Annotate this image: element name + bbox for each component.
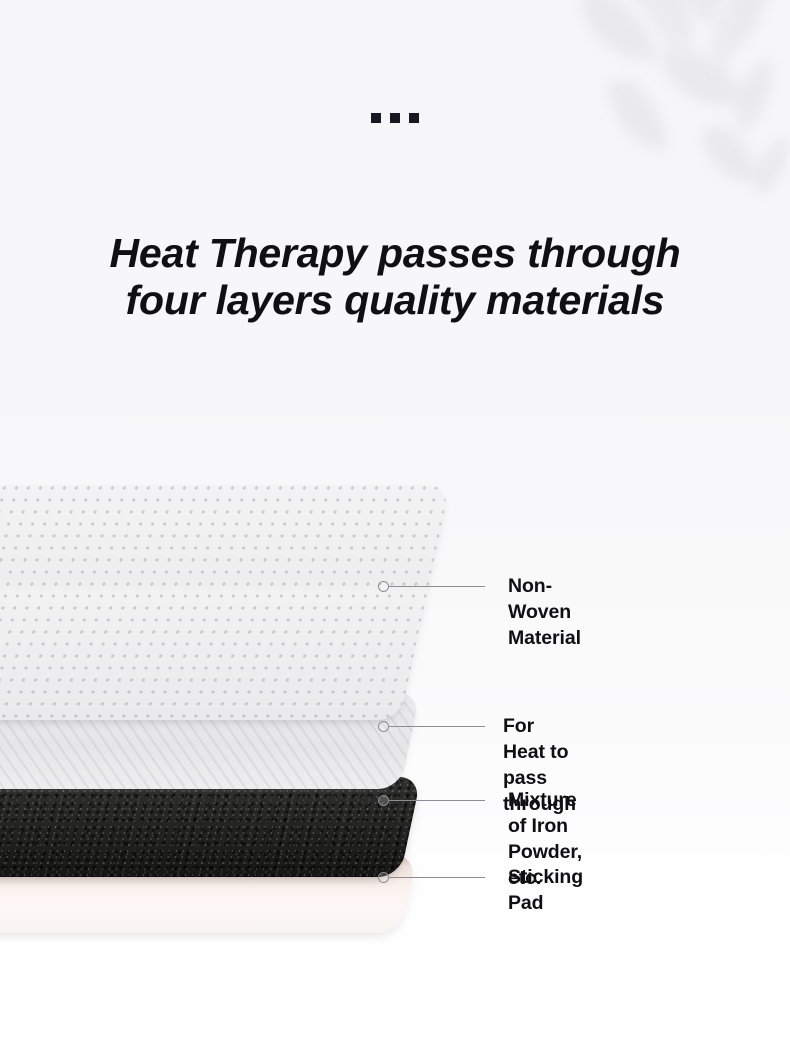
callout-label-4: Sticking Pad <box>508 864 583 916</box>
callout-leader-1 <box>389 586 485 587</box>
callout-leader-4 <box>389 877 485 878</box>
callout-leader-3 <box>389 800 485 801</box>
callout-dot-4[interactable] <box>378 872 389 883</box>
callout-leader-2 <box>389 726 485 727</box>
callout-dot-1[interactable] <box>378 581 389 592</box>
callout-dot-2[interactable] <box>378 721 389 732</box>
callout-label-1: Non-Woven Material <box>508 573 581 651</box>
callout-group: Non-Woven Material For Heat to pass thro… <box>0 0 790 1062</box>
callout-dot-3[interactable] <box>378 795 389 806</box>
product-infographic-page: Heat Therapy passes through four layers … <box>0 0 790 1062</box>
